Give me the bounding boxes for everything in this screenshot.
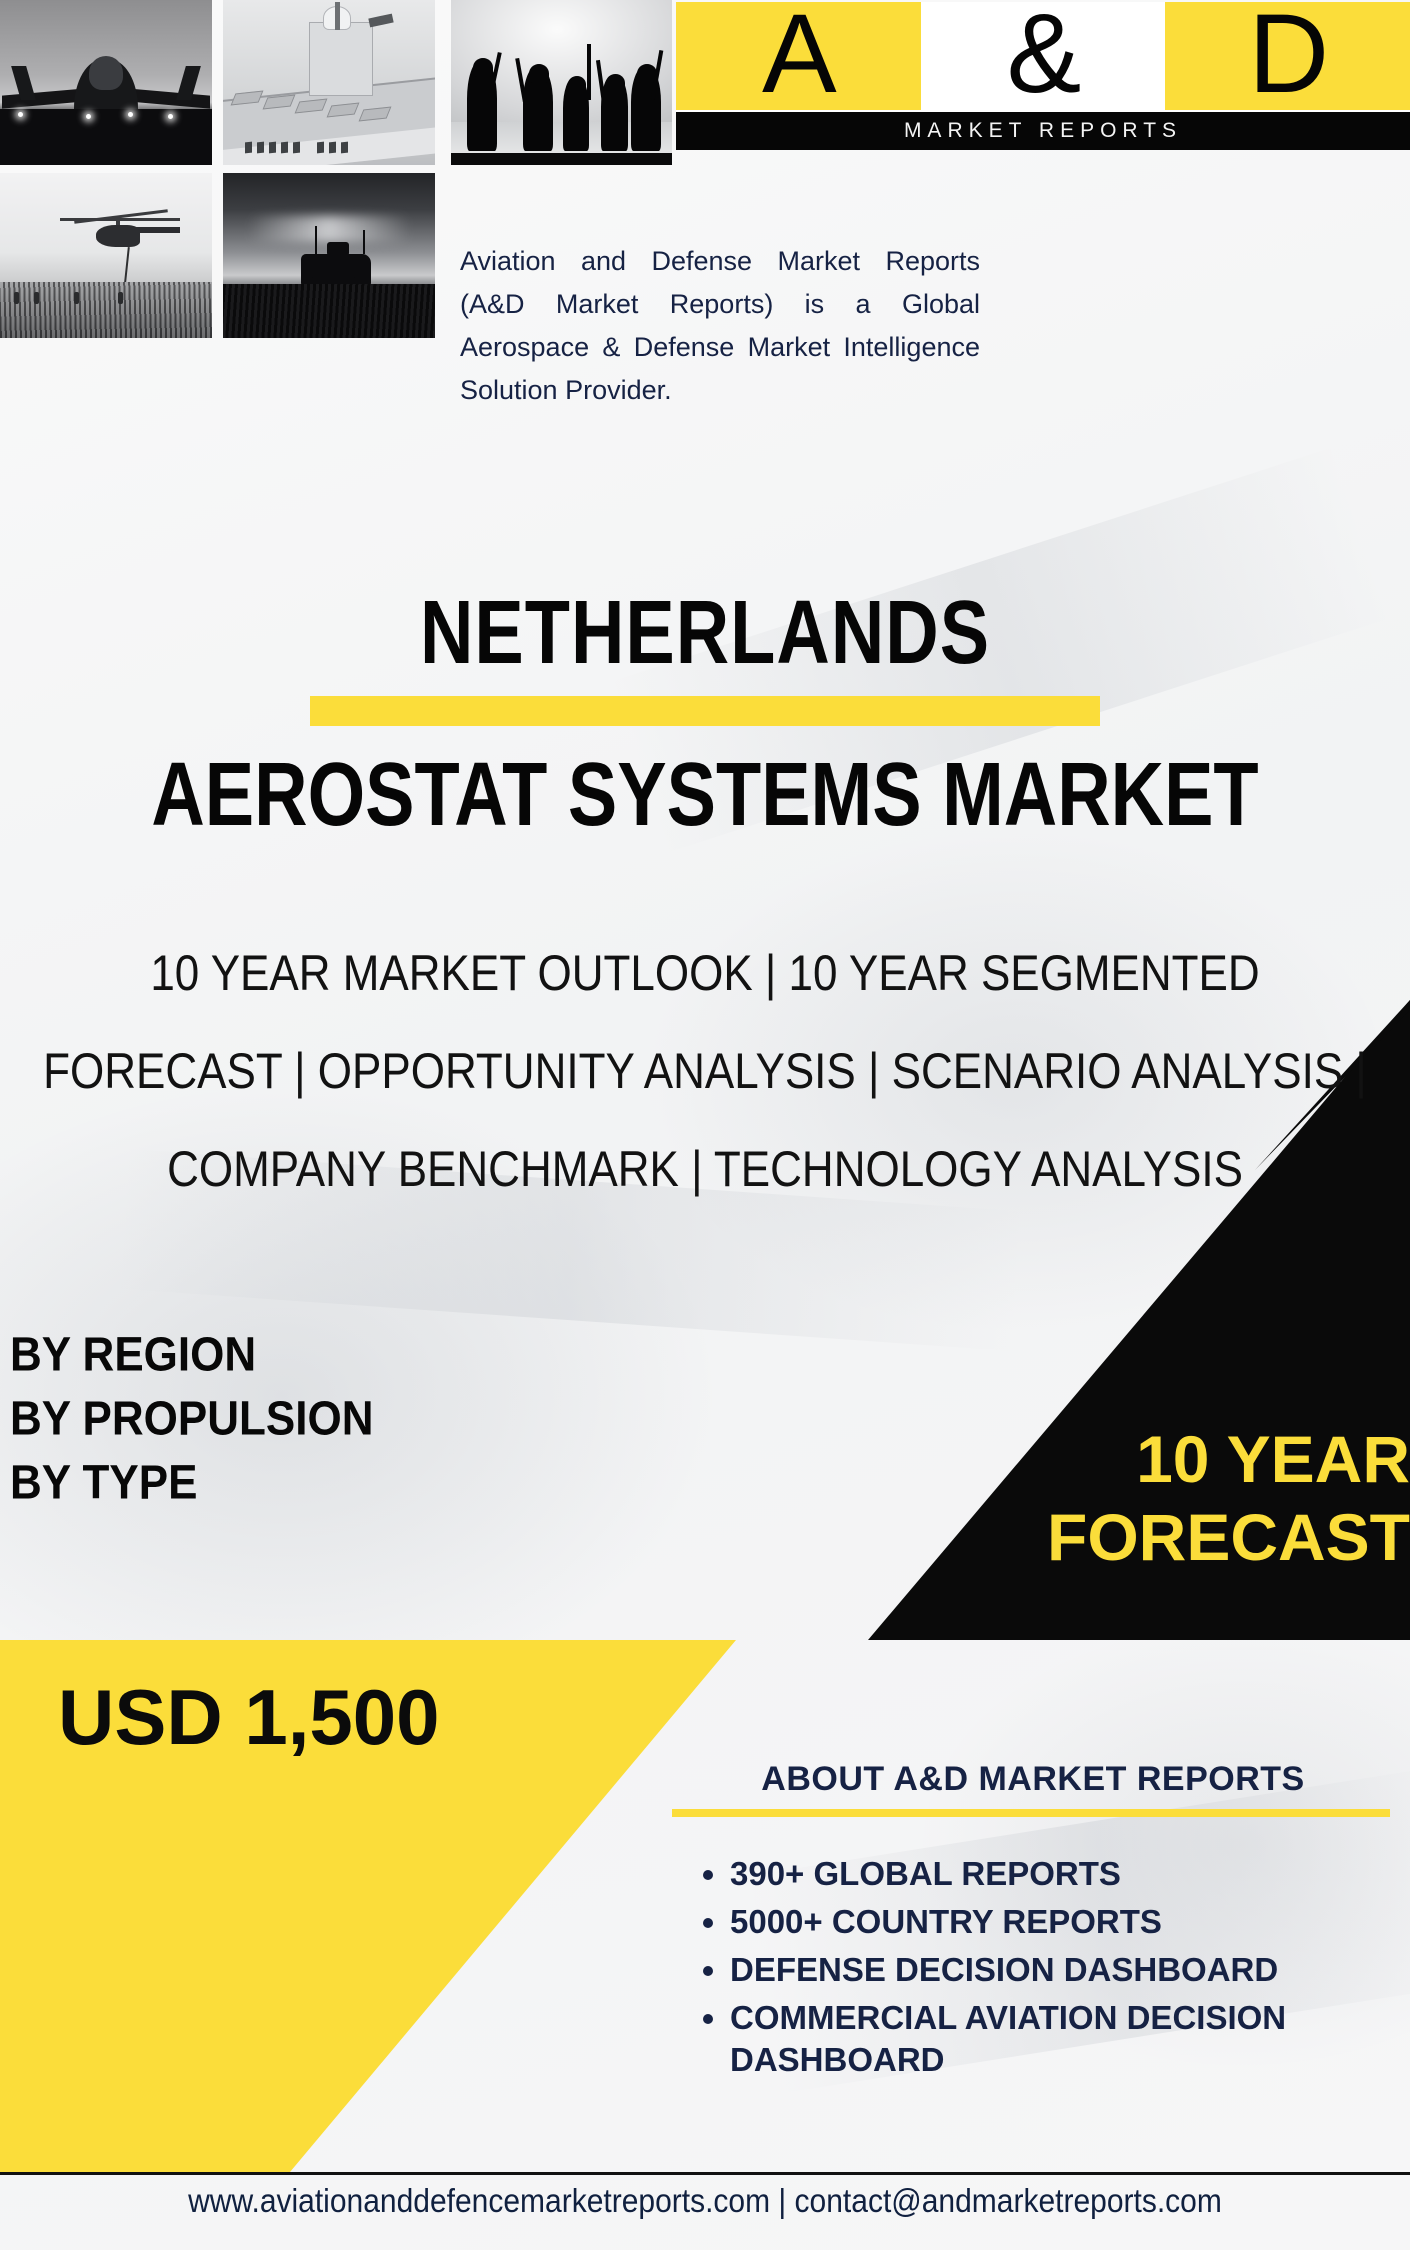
subtitle-features: 10 YEAR MARKET OUTLOOK | 10 YEAR SEGMENT… — [40, 925, 1370, 1219]
forecast-badge: 10 YEAR FORECAST — [880, 1420, 1410, 1576]
photo-armored-vehicle — [223, 173, 435, 338]
about-bullet-list: 390+ GLOBAL REPORTS 5000+ COUNTRY REPORT… — [668, 1853, 1398, 2081]
brand-logo: A & D MARKET REPORTS — [676, 2, 1410, 150]
segment-item-region: BY REGION — [10, 1320, 373, 1390]
photo-fighter-jet — [0, 0, 212, 165]
about-bullet-defense-dashboard: DEFENSE DECISION DASHBOARD — [730, 1949, 1398, 1991]
page-title-line1: NETHERLANDS — [0, 590, 1410, 676]
about-bullet-country-reports: 5000+ COUNTRY REPORTS — [730, 1901, 1398, 1943]
logo-letter-a: A — [762, 0, 835, 110]
logo-cell-d: D — [1165, 2, 1410, 110]
about-bullet-global-reports: 390+ GLOBAL REPORTS — [730, 1853, 1398, 1895]
logo-band-text: MARKET REPORTS — [904, 119, 1182, 143]
page-title-line2: AEROSTAT SYSTEMS MARKET — [0, 752, 1410, 838]
about-title: ABOUT A&D MARKET REPORTS — [668, 1760, 1398, 1799]
about-underline — [672, 1809, 1390, 1817]
logo-cell-a: A — [676, 2, 921, 110]
logo-letter-d: D — [1248, 0, 1327, 110]
about-bullet-commercial-dashboard: COMMERCIAL AVIATION DECISION DASHBOARD — [730, 1997, 1398, 2081]
footer-contact: www.aviationanddefencemarketreports.com … — [0, 2183, 1410, 2221]
title-divider-bar — [310, 696, 1100, 726]
segment-list: BY REGION BY PROPULSION BY TYPE — [10, 1320, 373, 1512]
segment-item-type: BY TYPE — [10, 1448, 373, 1518]
about-block: ABOUT A&D MARKET REPORTS 390+ GLOBAL REP… — [668, 1760, 1398, 2087]
photo-aircraft-carrier — [223, 0, 435, 165]
forecast-line2: FORECAST — [880, 1498, 1410, 1576]
segment-item-propulsion: BY PROPULSION — [10, 1384, 373, 1454]
report-cover-page: A & D MARKET REPORTS Aviation and Defens… — [0, 0, 1410, 2250]
photo-helicopter — [0, 173, 212, 338]
footer-divider — [0, 2172, 1410, 2175]
photo-soldiers — [451, 0, 672, 165]
logo-letter-ampersand: & — [1007, 0, 1080, 110]
forecast-line1: 10 YEAR — [880, 1420, 1410, 1498]
intro-paragraph: Aviation and Defense Market Reports (A&D… — [460, 240, 980, 412]
logo-cell-ampersand: & — [921, 2, 1166, 110]
price-label: USD 1,500 — [58, 1672, 440, 1763]
title-block: NETHERLANDS AEROSTAT SYSTEMS MARKET — [0, 590, 1410, 823]
logo-letter-row: A & D — [676, 2, 1410, 110]
logo-band: MARKET REPORTS — [676, 112, 1410, 150]
